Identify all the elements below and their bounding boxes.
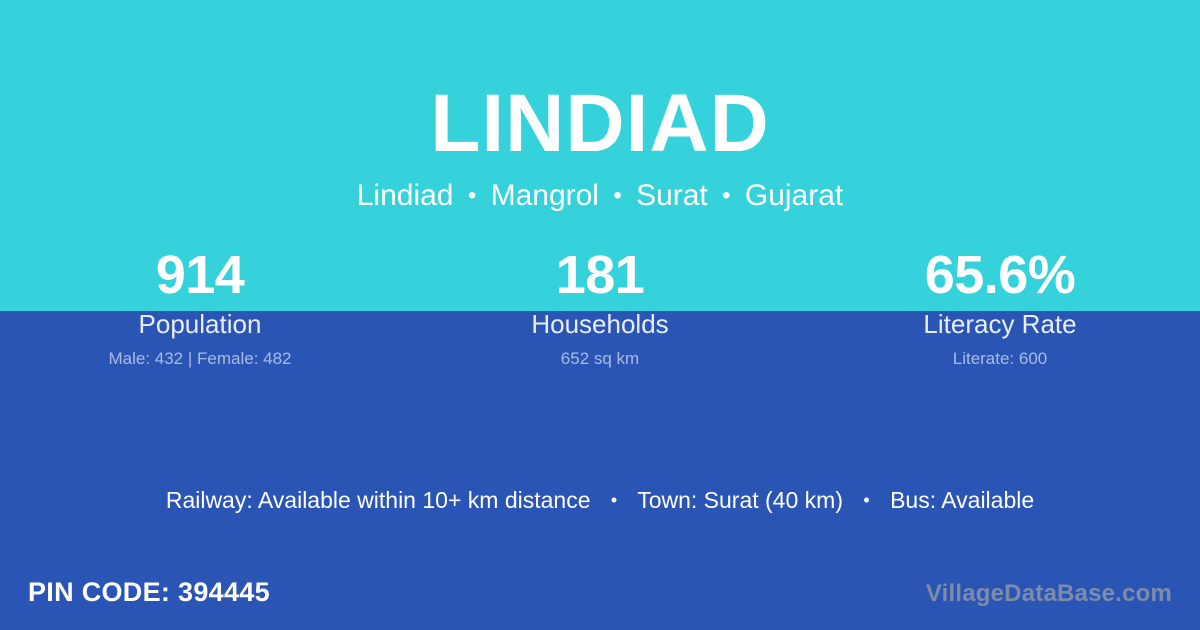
- stat-label: Households: [400, 308, 800, 340]
- amenity-separator-1: •: [597, 490, 631, 510]
- stat-sublabel: Male: 432 | Female: 482: [0, 348, 400, 370]
- village-info-card: LINDIAD Lindiad • Mangrol • Surat • Guja…: [0, 0, 1200, 630]
- breadcrumb-separator-1: •: [462, 182, 482, 209]
- amenity-railway: Railway: Available within 10+ km distanc…: [166, 487, 591, 513]
- breadcrumb-state: Gujarat: [745, 179, 843, 212]
- stat-label: Literacy Rate: [800, 308, 1200, 340]
- breadcrumb-separator-2: •: [607, 182, 627, 209]
- stat-sublabel: 652 sq km: [400, 348, 800, 370]
- stats-row: 914 Population Male: 432 | Female: 482 1…: [0, 244, 1200, 370]
- pin-code: PIN CODE: 394445: [28, 574, 270, 610]
- stat-value: 65.6%: [800, 244, 1200, 306]
- amenity-bus: Bus: Available: [890, 487, 1034, 513]
- amenity-separator-2: •: [849, 490, 883, 510]
- stat-label: Population: [0, 308, 400, 340]
- amenities-line: Railway: Available within 10+ km distanc…: [0, 484, 1200, 516]
- breadcrumb-separator-3: •: [716, 182, 736, 209]
- card-header: LINDIAD Lindiad • Mangrol • Surat • Guja…: [0, 0, 1200, 214]
- breadcrumb-village: Lindiad: [357, 179, 454, 212]
- stat-value: 181: [400, 244, 800, 306]
- breadcrumb-block: Mangrol: [491, 179, 599, 212]
- stat-households: 181 Households 652 sq km: [400, 244, 800, 370]
- stat-literacy-rate: 65.6% Literacy Rate Literate: 600: [800, 244, 1200, 370]
- stat-sublabel: Literate: 600: [800, 348, 1200, 370]
- stat-population: 914 Population Male: 432 | Female: 482: [0, 244, 400, 370]
- page-title: LINDIAD: [0, 0, 1200, 168]
- breadcrumb: Lindiad • Mangrol • Surat • Gujarat: [0, 168, 1200, 214]
- brand-watermark: VillageDataBase.com: [926, 578, 1172, 610]
- breadcrumb-district: Surat: [636, 179, 708, 212]
- card-footer: PIN CODE: 394445 VillageDataBase.com: [0, 570, 1200, 630]
- stat-value: 914: [0, 244, 400, 306]
- amenity-town: Town: Surat (40 km): [637, 487, 843, 513]
